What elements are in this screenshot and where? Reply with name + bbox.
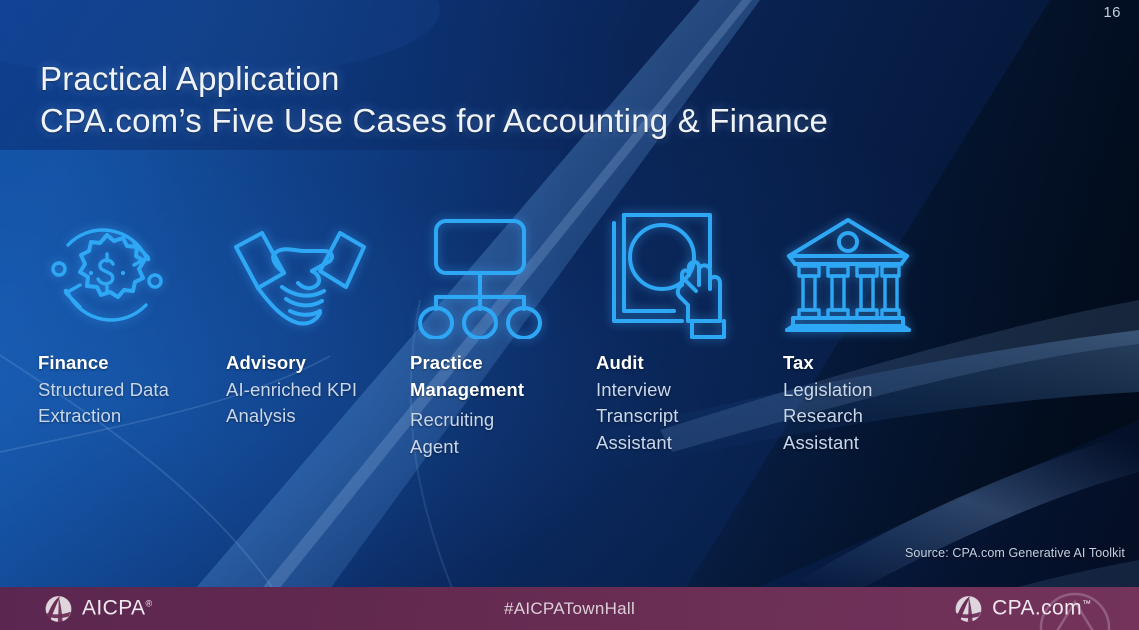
source-attribution: Source: CPA.com Generative AI Toolkit bbox=[905, 546, 1125, 560]
use-case-desc-line: Transcript bbox=[596, 403, 771, 430]
cpa-com-trademark: ™ bbox=[1082, 599, 1091, 609]
use-case-desc-line: Recruiting bbox=[410, 407, 590, 434]
use-case-title-line-2: Management bbox=[410, 377, 590, 404]
cpa-com-logo: CPA.com™ bbox=[954, 594, 1091, 623]
page-title: Practical Application CPA.com’s Five Use… bbox=[40, 58, 828, 142]
use-case-desc-line: Assistant bbox=[783, 430, 968, 457]
use-case-desc-line: AI-enriched KPI bbox=[226, 377, 406, 404]
use-case-tax: Tax Legislation Research Assistant bbox=[783, 200, 968, 456]
use-case-title: Practice bbox=[410, 350, 590, 377]
use-case-desc-line: Interview bbox=[596, 377, 771, 404]
use-case-desc-line: Assistant bbox=[596, 430, 771, 457]
use-case-row: Finance Structured Data Extraction bbox=[0, 200, 1139, 500]
use-case-audit: Audit Interview Transcript Assistant bbox=[596, 200, 771, 456]
use-case-practice-management: Practice Management Recruiting Agent bbox=[410, 200, 590, 460]
org-chart-hierarchy-icon bbox=[410, 200, 590, 350]
use-case-desc-line: Structured Data bbox=[38, 377, 228, 404]
use-case-title: Finance bbox=[38, 350, 228, 377]
use-case-desc-line: Agent bbox=[410, 434, 590, 461]
use-case-desc-line: Legislation bbox=[783, 377, 968, 404]
page-number: 16 bbox=[1103, 4, 1121, 21]
use-case-title: Advisory bbox=[226, 350, 406, 377]
footer-bar: AICPA® #AICPATownHall CPA.com™ bbox=[0, 587, 1139, 630]
handshake-icon bbox=[226, 200, 406, 350]
cpa-com-wordmark: CPA.com™ bbox=[992, 597, 1091, 621]
use-case-desc-line: Research bbox=[783, 403, 968, 430]
use-case-title: Audit bbox=[596, 350, 771, 377]
use-case-desc-line: Extraction bbox=[38, 403, 228, 430]
cpa-com-label: CPA.com bbox=[992, 597, 1082, 620]
slide-canvas: 16 Practical Application CPA.com’s Five … bbox=[0, 0, 1139, 630]
courthouse-columns-icon bbox=[783, 200, 968, 350]
title-line-1: Practical Application bbox=[40, 58, 828, 100]
cpa-com-globe-icon bbox=[954, 594, 983, 623]
use-case-title: Tax bbox=[783, 350, 968, 377]
gear-dollar-cycle-icon bbox=[38, 200, 228, 350]
title-line-2: CPA.com’s Five Use Cases for Accounting … bbox=[40, 100, 828, 142]
use-case-desc-line: Analysis bbox=[226, 403, 406, 430]
hand-magnifier-document-icon bbox=[596, 200, 771, 350]
use-case-advisory: Advisory AI-enriched KPI Analysis bbox=[226, 200, 406, 430]
use-case-finance: Finance Structured Data Extraction bbox=[38, 200, 228, 430]
